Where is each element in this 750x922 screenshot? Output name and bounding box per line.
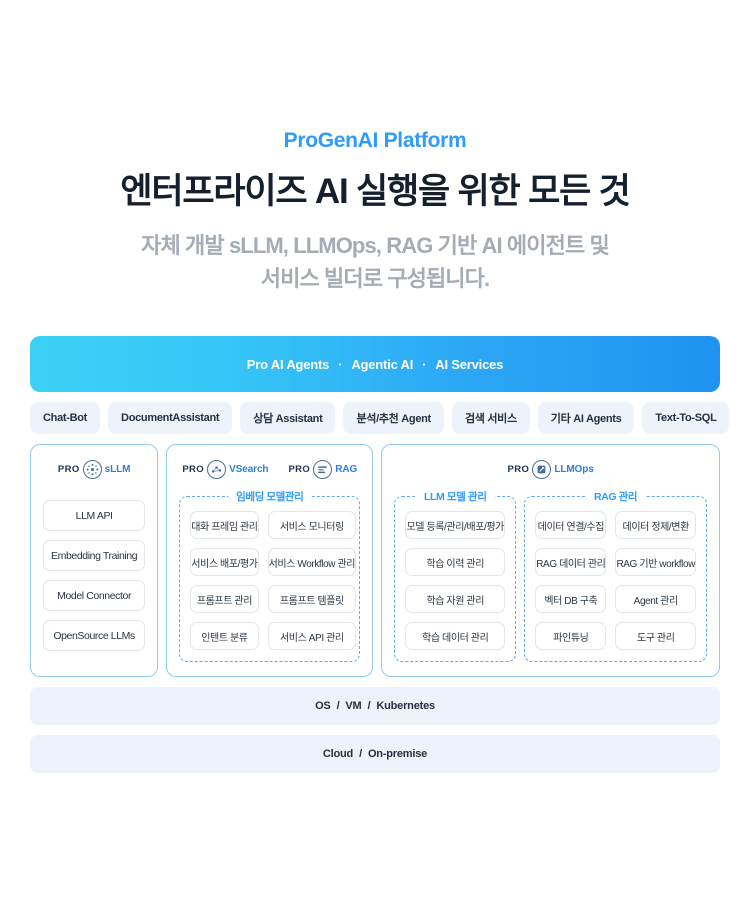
tile-data-clean-transform[interactable]: 데이터 정제/변환	[615, 511, 696, 539]
page-subtitle-line-2: 서비스 빌더로 구성됩니다.	[75, 263, 675, 296]
progenai-platform-diagram: ProGenAI Platform 엔터프라이즈 AI 실행을 위한 모든 것 …	[0, 0, 750, 922]
page-title: 엔터프라이즈 AI 실행을 위한 모든 것	[0, 170, 750, 214]
infra-bar-cloud-onpremise: Cloud / On-premise	[30, 735, 720, 773]
logo-product-name: VSearch	[229, 464, 268, 475]
tile-intent-classification[interactable]: 인텐트 분류	[190, 622, 258, 650]
logo-pro-vsearch: PRO VSearch	[182, 460, 268, 479]
chip-chat-bot[interactable]: Chat-Bot	[30, 402, 100, 434]
tile-service-api-management[interactable]: 서비스 API 관리	[268, 622, 357, 650]
logo-pro-text: PRO	[288, 464, 310, 475]
banner-item-2: AI Services	[435, 357, 503, 372]
list-lines-icon	[313, 460, 332, 479]
group-title: RAG 관리	[586, 489, 645, 504]
tile-embedding-training[interactable]: Embedding Training	[43, 540, 145, 571]
rag-tile-grid: 데이터 연결/수집 데이터 정제/변환 RAG 데이터 관리 RAG 기반 wo…	[535, 511, 696, 650]
tile-service-deploy-eval[interactable]: 서비스 배포/평가	[190, 548, 258, 576]
group-rag-management: RAG 관리 데이터 연결/수집 데이터 정제/변환 RAG 데이터 관리 RA…	[524, 496, 707, 662]
tile-training-history-management[interactable]: 학습 이력 관리	[405, 548, 505, 576]
infra-separator: /	[368, 700, 371, 712]
tile-tool-management[interactable]: 도구 관리	[615, 622, 696, 650]
infra-part-cloud: Cloud	[323, 748, 353, 760]
infra-part-vm: VM	[345, 700, 361, 712]
tile-opensource-llms[interactable]: OpenSource LLMs	[43, 620, 145, 651]
card-vsearch-rag: PRO VSearch	[166, 444, 373, 677]
group-embedding-model-management: 임베딩 모델관리 대화 프레임 관리 서비스 모니터링 서비스 배포/평가 서비…	[179, 496, 360, 662]
banner-item-1: Agentic AI	[351, 357, 413, 372]
pen-square-icon	[532, 460, 551, 479]
infra-bar-os-vm-kubernetes: OS / VM / Kubernetes	[30, 687, 720, 725]
tile-agent-management[interactable]: Agent 관리	[615, 585, 696, 613]
chip-other-ai-agents[interactable]: 기타 AI Agents	[538, 402, 635, 434]
llm-model-tile-grid: 모델 등록/관리/배포/평가 학습 이력 관리 학습 자원 관리 학습 데이터 …	[405, 511, 505, 650]
infra-separator: /	[337, 700, 340, 712]
logo-pro-llmops: PRO LLMOps	[508, 460, 594, 479]
page-subtitle-line-1: 자체 개발 sLLM, LLMOps, RAG 기반 AI 에이전트 및	[75, 230, 675, 263]
logo-pro-text: PRO	[182, 464, 204, 475]
chip-text-to-sql[interactable]: Text-To-SQL	[642, 402, 729, 434]
tile-service-monitoring[interactable]: 서비스 모니터링	[268, 511, 357, 539]
tile-vector-db-build[interactable]: 벡터 DB 구축	[535, 585, 606, 613]
logo-pro-rag: PRO RAG	[288, 460, 357, 479]
node-graph-icon	[207, 460, 226, 479]
llmops-logo-row: PRO LLMOps	[394, 458, 707, 480]
ai-agents-banner: Pro AI Agents · Agentic AI · AI Services	[30, 336, 720, 392]
architecture-diagram: Pro AI Agents · Agentic AI · AI Services…	[30, 336, 720, 773]
page-header: ProGenAI Platform 엔터프라이즈 AI 실행을 위한 모든 것 …	[0, 0, 750, 295]
tile-rag-data-management[interactable]: RAG 데이터 관리	[535, 548, 606, 576]
logo-pro-text: PRO	[508, 464, 530, 475]
sllm-logo-row: PRO	[43, 458, 145, 480]
logo-product-name: sLLM	[105, 464, 131, 475]
tile-dialog-frame-management[interactable]: 대화 프레임 관리	[190, 511, 258, 539]
group-llm-model-management: LLM 모델 관리 모델 등록/관리/배포/평가 학습 이력 관리 학습 자원 …	[394, 496, 516, 662]
infra-separator: /	[359, 748, 362, 760]
tile-data-connect-collect[interactable]: 데이터 연결/수집	[535, 511, 606, 539]
infra-part-onpremise: On-premise	[368, 748, 427, 760]
logo-product-name: RAG	[335, 464, 357, 475]
tile-fine-tuning[interactable]: 파인튜닝	[535, 622, 606, 650]
banner-separator-0: ·	[338, 357, 342, 372]
tile-model-connector[interactable]: Model Connector	[43, 580, 145, 611]
group-title: LLM 모델 관리	[416, 489, 494, 504]
tile-training-resource-management[interactable]: 학습 자원 관리	[405, 585, 505, 613]
platform-cards-row: PRO	[30, 444, 720, 677]
page-eyebrow: ProGenAI Platform	[0, 128, 750, 154]
tile-training-data-management[interactable]: 학습 데이터 관리	[405, 622, 505, 650]
logo-product-name: LLMOps	[554, 464, 593, 475]
chip-search-service[interactable]: 검색 서비스	[452, 402, 530, 434]
infra-part-os: OS	[315, 700, 331, 712]
llmops-groups: LLM 모델 관리 모델 등록/관리/배포/평가 학습 이력 관리 학습 자원 …	[394, 496, 707, 662]
page-subtitle: 자체 개발 sLLM, LLMOps, RAG 기반 AI 에이전트 및 서비스…	[75, 230, 675, 295]
logo-pro-text: PRO	[58, 464, 80, 475]
vsearch-rag-logo-row: PRO VSearch	[179, 458, 360, 480]
tile-model-register-manage-deploy-eval[interactable]: 모델 등록/관리/배포/평가	[405, 511, 505, 539]
banner-separator-1: ·	[422, 357, 426, 372]
banner-item-0: Pro AI Agents	[247, 357, 329, 372]
sllm-item-list: LLM API Embedding Training Model Connect…	[43, 500, 145, 651]
chip-consult-assistant[interactable]: 상담 Assistant	[240, 402, 335, 434]
network-circle-icon	[83, 460, 102, 479]
chip-document-assistant[interactable]: DocumentAssistant	[108, 402, 232, 434]
tile-service-workflow-management[interactable]: 서비스 Workflow 관리	[268, 548, 357, 576]
group-title: 임베딩 모델관리	[228, 489, 311, 504]
tile-prompt-management[interactable]: 프롬프트 관리	[190, 585, 258, 613]
embedding-tile-grid: 대화 프레임 관리 서비스 모니터링 서비스 배포/평가 서비스 Workflo…	[190, 511, 349, 650]
card-sllm: PRO	[30, 444, 158, 677]
tile-rag-based-workflow[interactable]: RAG 기반 workflow	[615, 548, 696, 576]
chip-analysis-recommend-agent[interactable]: 분석/추천 Agent	[343, 402, 443, 434]
tile-prompt-template[interactable]: 프롬프트 템플릿	[268, 585, 357, 613]
infra-part-kubernetes: Kubernetes	[376, 700, 435, 712]
card-llmops: PRO LLMOps LLM 모델 관리	[381, 444, 720, 677]
logo-pro-sllm: PRO	[58, 460, 131, 479]
tile-llm-api[interactable]: LLM API	[43, 500, 145, 531]
agent-chip-row: Chat-Bot DocumentAssistant 상담 Assistant …	[30, 402, 720, 434]
